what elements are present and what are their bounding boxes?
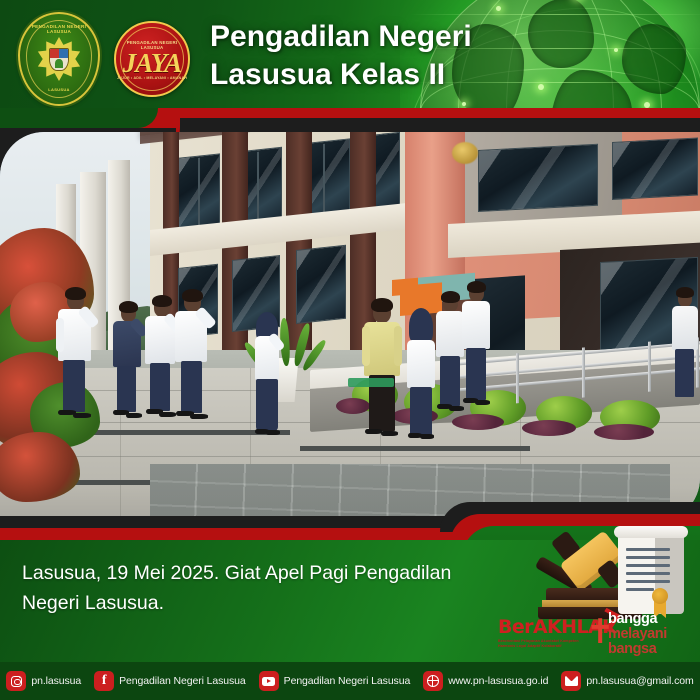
email-icon[interactable] [561,671,581,691]
bangga-line-3: bangsa [608,642,700,657]
event-photo [0,132,700,522]
facebook-page-name: Pengadilan Negeri Lasusua [119,675,246,687]
wax-seal [652,588,668,604]
green-mat [348,378,394,387]
court-emblem-top-text: PENGADILAN NEGERI LASUSUA [20,25,98,34]
jaya-emblem-top-text: PENGADILAN NEGERI LASUSUA [116,40,188,51]
wall-seal [452,142,478,164]
bangga-melayani-bangsa-logo: ✝ bangga melayani bangsa [608,612,700,656]
caption-text: Lasusua, 19 Mei 2025. Giat Apel Pagi Pen… [22,558,492,618]
instagram-handle: pn.lasusua [31,675,81,687]
bangga-line-2: melayani [608,627,700,642]
court-emblem-bottom-text: LASUSUA [20,88,98,92]
youtube-icon[interactable] [259,671,279,691]
poster-canvas: PENGADILAN NEGERI LASUSUA LASUSUA PENGAD… [0,0,700,700]
instagram-icon[interactable] [6,671,26,691]
logo-group: PENGADILAN NEGERI LASUSUA LASUSUA PENGAD… [18,12,190,106]
social-item-email[interactable]: pn.lasusua@gmail.com [561,671,693,691]
email-address: pn.lasusua@gmail.com [586,675,693,687]
youtube-channel-name: Pengadilan Negeri Lasusua [284,675,411,687]
social-item-instagram[interactable]: pn.lasusua [6,671,81,691]
bangga-line-1: bangga [608,612,700,627]
website-url: www.pn-lasusua.go.id [448,675,548,687]
globe-icon[interactable] [423,671,443,691]
jaya-emblem-word: JAYA [123,51,182,77]
footer-contact-bar: pn.lasusua f Pengadilan Negeri Lasusua P… [0,662,700,700]
social-item-website[interactable]: www.pn-lasusua.go.id [423,671,548,691]
social-item-facebook[interactable]: f Pengadilan Negeri Lasusua [94,671,246,691]
facebook-icon[interactable]: f [94,671,114,691]
title-line-2: Lasusua Kelas II [210,56,540,94]
jaya-emblem-bottom-text: JUJUR • ADIL • MELAYANI • AMANAH [117,76,187,80]
jaya-emblem-icon: PENGADILAN NEGERI LASUSUA JAYA JUJUR • A… [114,21,190,97]
scroll-roll-top [614,526,688,538]
document-scroll [618,532,684,614]
bangga-person-icon: ✝ [586,616,612,652]
page-title: Pengadilan Negeri Lasusua Kelas II [210,18,540,94]
emblem-shield-icon [49,48,69,71]
social-item-youtube[interactable]: Pengadilan Negeri Lasusua [259,671,411,691]
title-line-1: Pengadilan Negeri [210,18,540,56]
court-emblem-icon: PENGADILAN NEGERI LASUSUA LASUSUA [18,12,100,106]
caption-section: Lasusua, 19 Mei 2025. Giat Apel Pagi Pen… [0,540,700,662]
header-banner: PENGADILAN NEGERI LASUSUA LASUSUA PENGAD… [0,0,700,116]
emblem-star-icon [37,37,81,81]
